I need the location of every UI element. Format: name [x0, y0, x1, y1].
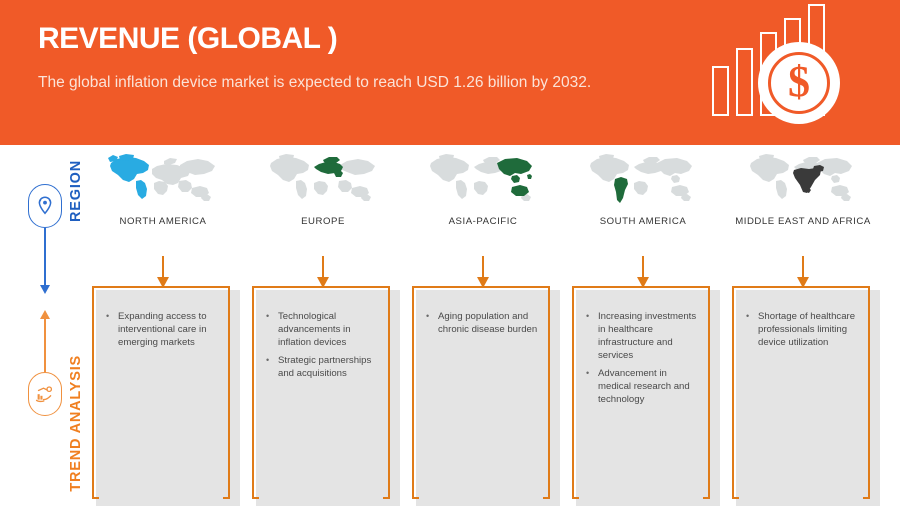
dollar-sign-icon: $ — [768, 52, 830, 114]
list-item: Shortage of healthcare professionals lim… — [746, 310, 862, 349]
world-map-asia-pacific-highlighted — [424, 152, 542, 208]
region-down-arrow — [44, 228, 46, 286]
region-label-asia-pacific: ASIA-PACIFIC — [408, 216, 558, 227]
trend-panel-asia-pacific: Aging population and chronic disease bur… — [412, 286, 560, 506]
bar-1 — [712, 66, 729, 116]
rail-label-region: REGION — [68, 160, 84, 222]
region-column-europe: EUROPE — [248, 152, 398, 227]
world-map-europe-highlighted — [264, 152, 382, 208]
rail-label-trend-analysis: TREND ANALYSIS — [68, 355, 84, 492]
list-item: Strategic partnerships and acquisitions — [266, 354, 382, 380]
bar-2 — [736, 48, 753, 116]
list-item: Advancement in medical research and tech… — [586, 367, 702, 406]
bullet-list-asia-pacific: Aging population and chronic disease bur… — [426, 310, 542, 341]
world-map-middle-east-africa-highlighted — [744, 152, 862, 208]
connector-arrow-asia-pacific — [482, 256, 484, 278]
connector-arrow-middle-east-and-africa — [802, 256, 804, 278]
region-column-south-america: SOUTH AMERICA — [568, 152, 718, 227]
region-column-north-america: NORTH AMERICA — [88, 152, 238, 227]
revenue-bar-chart-dollar-coin-icon: $ — [706, 8, 886, 138]
bullet-list-south-america: Increasing investments in healthcare inf… — [586, 310, 702, 411]
trend-panel-middle-east-and-africa: Shortage of healthcare professionals lim… — [732, 286, 880, 506]
world-map-north-america-highlighted — [104, 152, 222, 208]
bullet-list-north-america: Expanding access to interventional care … — [106, 310, 222, 354]
list-item: Aging population and chronic disease bur… — [426, 310, 542, 336]
connector-arrow-north-america — [162, 256, 164, 278]
trend-panel-europe: Technological advancements in inflation … — [252, 286, 400, 506]
region-label-south-america: SOUTH AMERICA — [568, 216, 718, 227]
region-column-asia-pacific: ASIA-PACIFIC — [408, 152, 558, 227]
location-pin-icon — [28, 184, 62, 228]
connector-arrow-europe — [322, 256, 324, 278]
trend-panel-south-america: Increasing investments in healthcare inf… — [572, 286, 720, 506]
trend-panel-north-america: Expanding access to interventional care … — [92, 286, 240, 506]
list-item: Expanding access to interventional care … — [106, 310, 222, 349]
bullet-list-europe: Technological advancements in inflation … — [266, 310, 382, 385]
trend-up-arrow — [44, 318, 46, 372]
list-item: Technological advancements in inflation … — [266, 310, 382, 349]
region-label-north-america: NORTH AMERICA — [88, 216, 238, 227]
header-subtitle: The global inflation device market is ex… — [38, 72, 618, 94]
hand-holding-growth-icon — [28, 372, 62, 416]
dollar-glyph: $ — [788, 60, 810, 104]
list-item: Increasing investments in healthcare inf… — [586, 310, 702, 362]
world-map-south-america-highlighted — [584, 152, 702, 208]
region-column-middle-east-and-africa: MIDDLE EAST AND AFRICA — [728, 152, 878, 227]
region-label-middle-east-and-africa: MIDDLE EAST AND AFRICA — [728, 216, 878, 227]
header-banner: REVENUE (GLOBAL ) The global inflation d… — [0, 0, 900, 145]
bullet-list-middle-east-and-africa: Shortage of healthcare professionals lim… — [746, 310, 862, 354]
region-label-europe: EUROPE — [248, 216, 398, 227]
page-title: REVENUE (GLOBAL ) — [38, 22, 337, 56]
connector-arrow-south-america — [642, 256, 644, 278]
